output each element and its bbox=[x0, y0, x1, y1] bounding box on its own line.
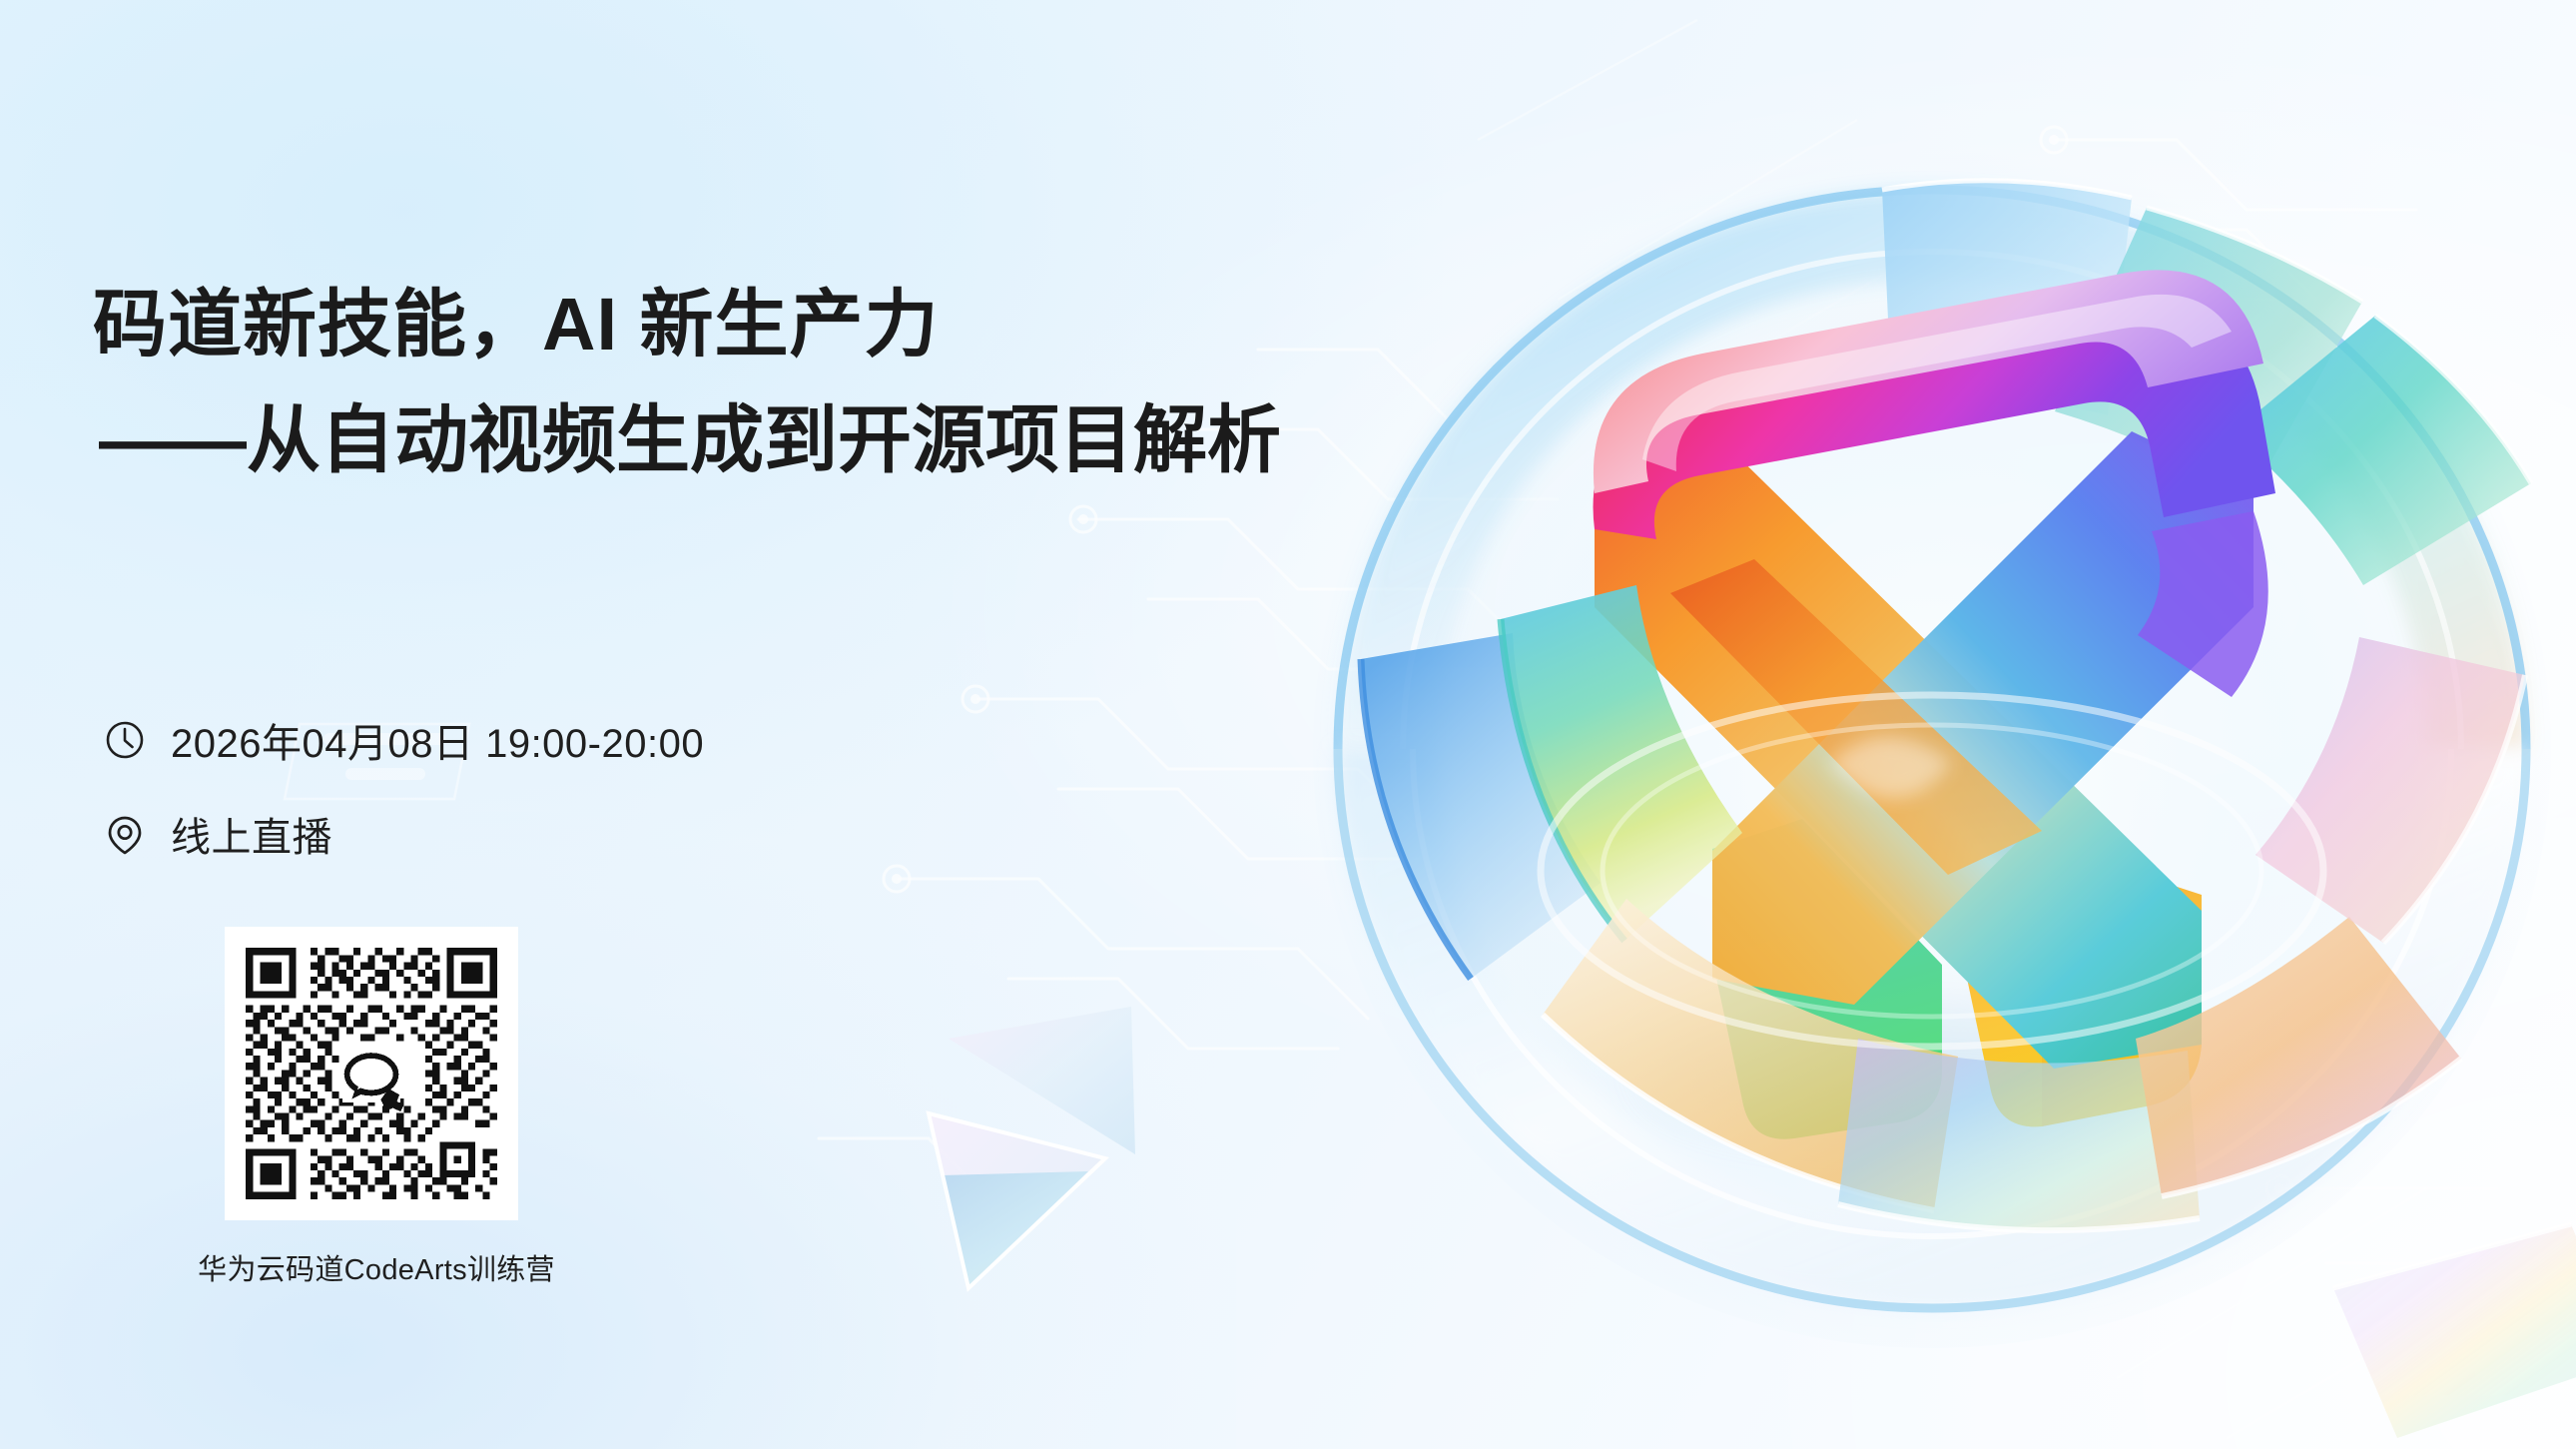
event-location: 线上直播 bbox=[171, 805, 332, 863]
clock-icon bbox=[103, 718, 147, 762]
qr-block: 华为云码道CodeArts训练营 bbox=[225, 927, 624, 1288]
qr-code[interactable] bbox=[225, 927, 518, 1220]
page-subtitle: ——从自动视频生成到开源项目解析 bbox=[99, 403, 1191, 477]
event-location-row: 线上直播 bbox=[103, 805, 704, 863]
event-datetime-row: 2026年04月08日 19:00-20:00 bbox=[103, 711, 704, 769]
qr-caption: 华为云码道CodeArts训练营 bbox=[177, 1246, 576, 1288]
map-pin-icon bbox=[103, 812, 147, 856]
page-title: 码道新技能，AI 新生产力 bbox=[93, 288, 1191, 362]
event-datetime: 2026年04月08日 19:00-20:00 bbox=[171, 711, 704, 769]
codearts-3d-artwork bbox=[1243, 60, 2576, 1438]
content-column: 码道新技能，AI 新生产力 ——从自动视频生成到开源项目解析 2026年04月0… bbox=[93, 0, 1211, 1449]
title-block: 码道新技能，AI 新生产力 ——从自动视频生成到开源项目解析 bbox=[93, 288, 1191, 477]
webinar-banner: 码道新技能，AI 新生产力 ——从自动视频生成到开源项目解析 2026年04月0… bbox=[0, 0, 2576, 1449]
event-meta-block: 2026年04月08日 19:00-20:00 线上直播 bbox=[103, 711, 704, 863]
